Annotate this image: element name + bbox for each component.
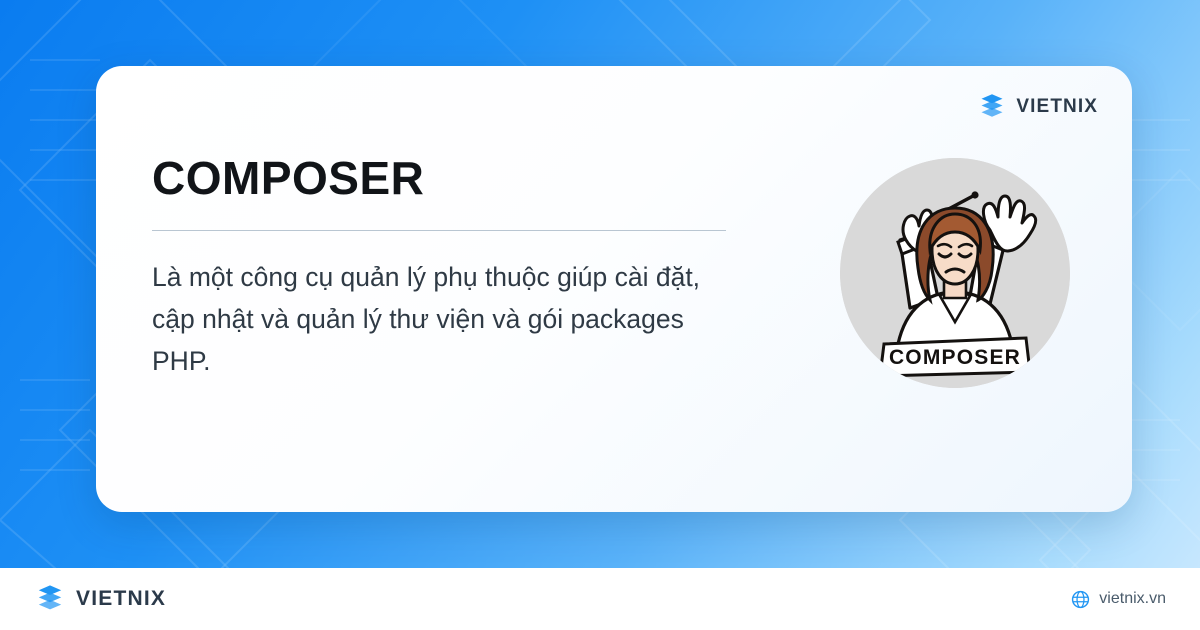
composer-mascot-illustration: COMPOSER [840, 158, 1070, 388]
stacked-layers-icon [34, 583, 66, 615]
globe-icon [1071, 590, 1090, 609]
description-text: Là một công cụ quản lý phụ thuộc giúp cà… [152, 257, 732, 383]
footer-brand-name: VIETNIX [76, 587, 166, 611]
footer-bar: VIETNIX vietnix.vn [0, 568, 1200, 630]
footer-website[interactable]: vietnix.vn [1071, 590, 1166, 609]
stacked-layers-icon [977, 92, 1007, 122]
page-title: COMPOSER [152, 154, 772, 202]
content-card: VIETNIX COMPOSER Là một công cụ quản lý … [96, 66, 1132, 512]
card-brand-name: VIETNIX [1016, 96, 1098, 118]
title-divider [152, 230, 726, 231]
card-brand-logo: VIETNIX [977, 92, 1098, 122]
banner-stage: VIETNIX COMPOSER Là một công cụ quản lý … [0, 0, 1200, 630]
illustration-caption: COMPOSER [889, 346, 1021, 369]
footer-brand[interactable]: VIETNIX [34, 583, 166, 615]
footer-website-label: vietnix.vn [1099, 590, 1166, 608]
card-content: COMPOSER Là một công cụ quản lý phụ thuộ… [152, 154, 772, 383]
